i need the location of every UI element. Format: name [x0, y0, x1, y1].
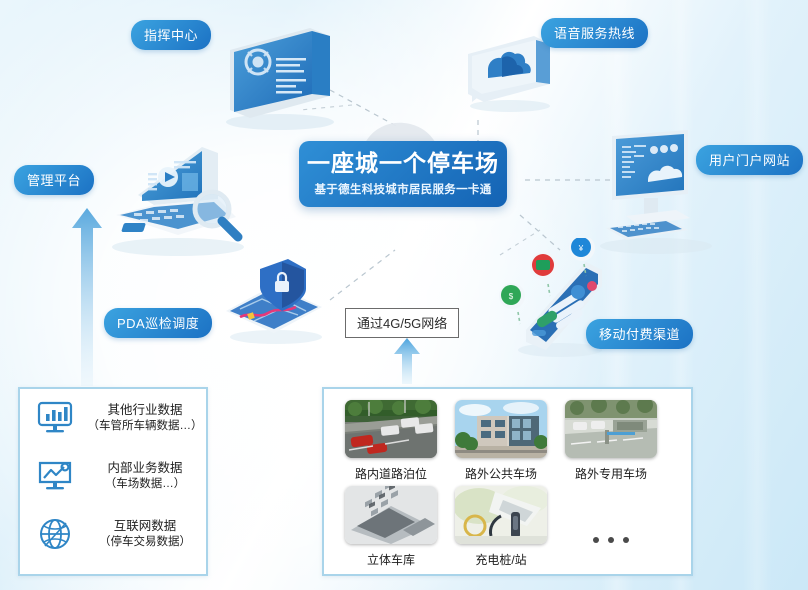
- data-source-title: 其他行业数据: [107, 402, 182, 419]
- network-up-arrow: [392, 338, 422, 384]
- parking-type-label: 路内道路泊位: [355, 465, 427, 482]
- banner-title: 一座城一个停车场: [307, 151, 499, 176]
- network-box: 通过4G/5G网络: [345, 308, 459, 338]
- label-voice-hotline[interactable]: 语音服务热线: [541, 18, 648, 48]
- data-sources-panel: 其他行业数据 （车管所车辆数据…） 内部业务数据 （车场数据…）: [18, 387, 208, 576]
- data-source-row: 其他行业数据 （车管所车辆数据…）: [20, 389, 206, 447]
- ev-charging-photo: [455, 486, 547, 544]
- data-source-text: 其他行业数据 （车管所车辆数据…）: [84, 402, 206, 434]
- bar-chart-monitor-icon: [34, 399, 76, 437]
- label-mobile-payment[interactable]: 移动付费渠道: [586, 319, 693, 349]
- infographic-canvas: $ ¥ 一座城一个停车场 基于德生科技城市居民服务一卡通 指挥中心 管理平台 P…: [0, 0, 808, 590]
- background-streak: [742, 0, 772, 590]
- data-source-subtitle: （车场数据…）: [105, 477, 186, 493]
- data-source-title: 互联网数据: [114, 518, 177, 535]
- label-pda-dispatch[interactable]: PDA巡检调度: [104, 308, 212, 338]
- parking-type-item[interactable]: 充电桩/站: [446, 486, 556, 568]
- label-user-portal[interactable]: 用户门户网站: [696, 145, 803, 175]
- street-parking-photo: [345, 400, 437, 458]
- parking-type-item[interactable]: 立体车库: [336, 486, 446, 568]
- parking-type-label: 路外公共车场: [465, 465, 537, 482]
- command-center-monitor: [214, 22, 344, 132]
- parking-type-item[interactable]: 路外公共车场: [446, 400, 556, 482]
- data-source-text: 互联网数据 （停车交易数据）: [84, 518, 206, 550]
- pda-tablet-shield: [218, 255, 332, 347]
- data-source-row: 内部业务数据 （车场数据…）: [20, 447, 206, 505]
- data-source-subtitle: （车管所车辆数据…）: [88, 419, 203, 435]
- data-source-subtitle: （停车交易数据）: [99, 535, 191, 551]
- central-banner: 一座城一个停车场 基于德生科技城市居民服务一卡通: [299, 141, 507, 207]
- label-management-platform[interactable]: 管理平台: [14, 165, 94, 195]
- svg-text:¥: ¥: [578, 244, 584, 253]
- data-source-text: 内部业务数据 （车场数据…）: [84, 460, 206, 492]
- parking-type-item[interactable]: 路内道路泊位: [336, 400, 446, 482]
- parking-type-item[interactable]: 路外专用车场: [556, 400, 666, 482]
- multi-level-garage-photo: [345, 486, 437, 544]
- parking-type-label: 充电桩/站: [475, 551, 526, 568]
- banner-subtitle: 基于德生科技城市居民服务一卡通: [315, 181, 492, 197]
- label-command-center[interactable]: 指挥中心: [131, 20, 211, 50]
- dedicated-lot-photo: [565, 400, 657, 458]
- public-garage-photo: [455, 400, 547, 458]
- svg-text:$: $: [509, 292, 514, 301]
- parking-type-label: 路外专用车场: [575, 465, 647, 482]
- data-source-title: 内部业务数据: [107, 460, 182, 477]
- parking-types-panel: 路内道路泊位: [322, 387, 693, 576]
- more-types-ellipsis: [556, 486, 666, 572]
- management-laptop: [96, 143, 256, 258]
- globe-icon: [34, 515, 76, 553]
- data-source-row: 互联网数据 （停车交易数据）: [20, 505, 206, 563]
- data-flow-up-arrow: [70, 208, 104, 386]
- parking-types-grid: 路内道路泊位: [324, 389, 691, 572]
- line-chart-monitor-icon: [34, 457, 76, 495]
- parking-type-label: 立体车库: [367, 551, 415, 568]
